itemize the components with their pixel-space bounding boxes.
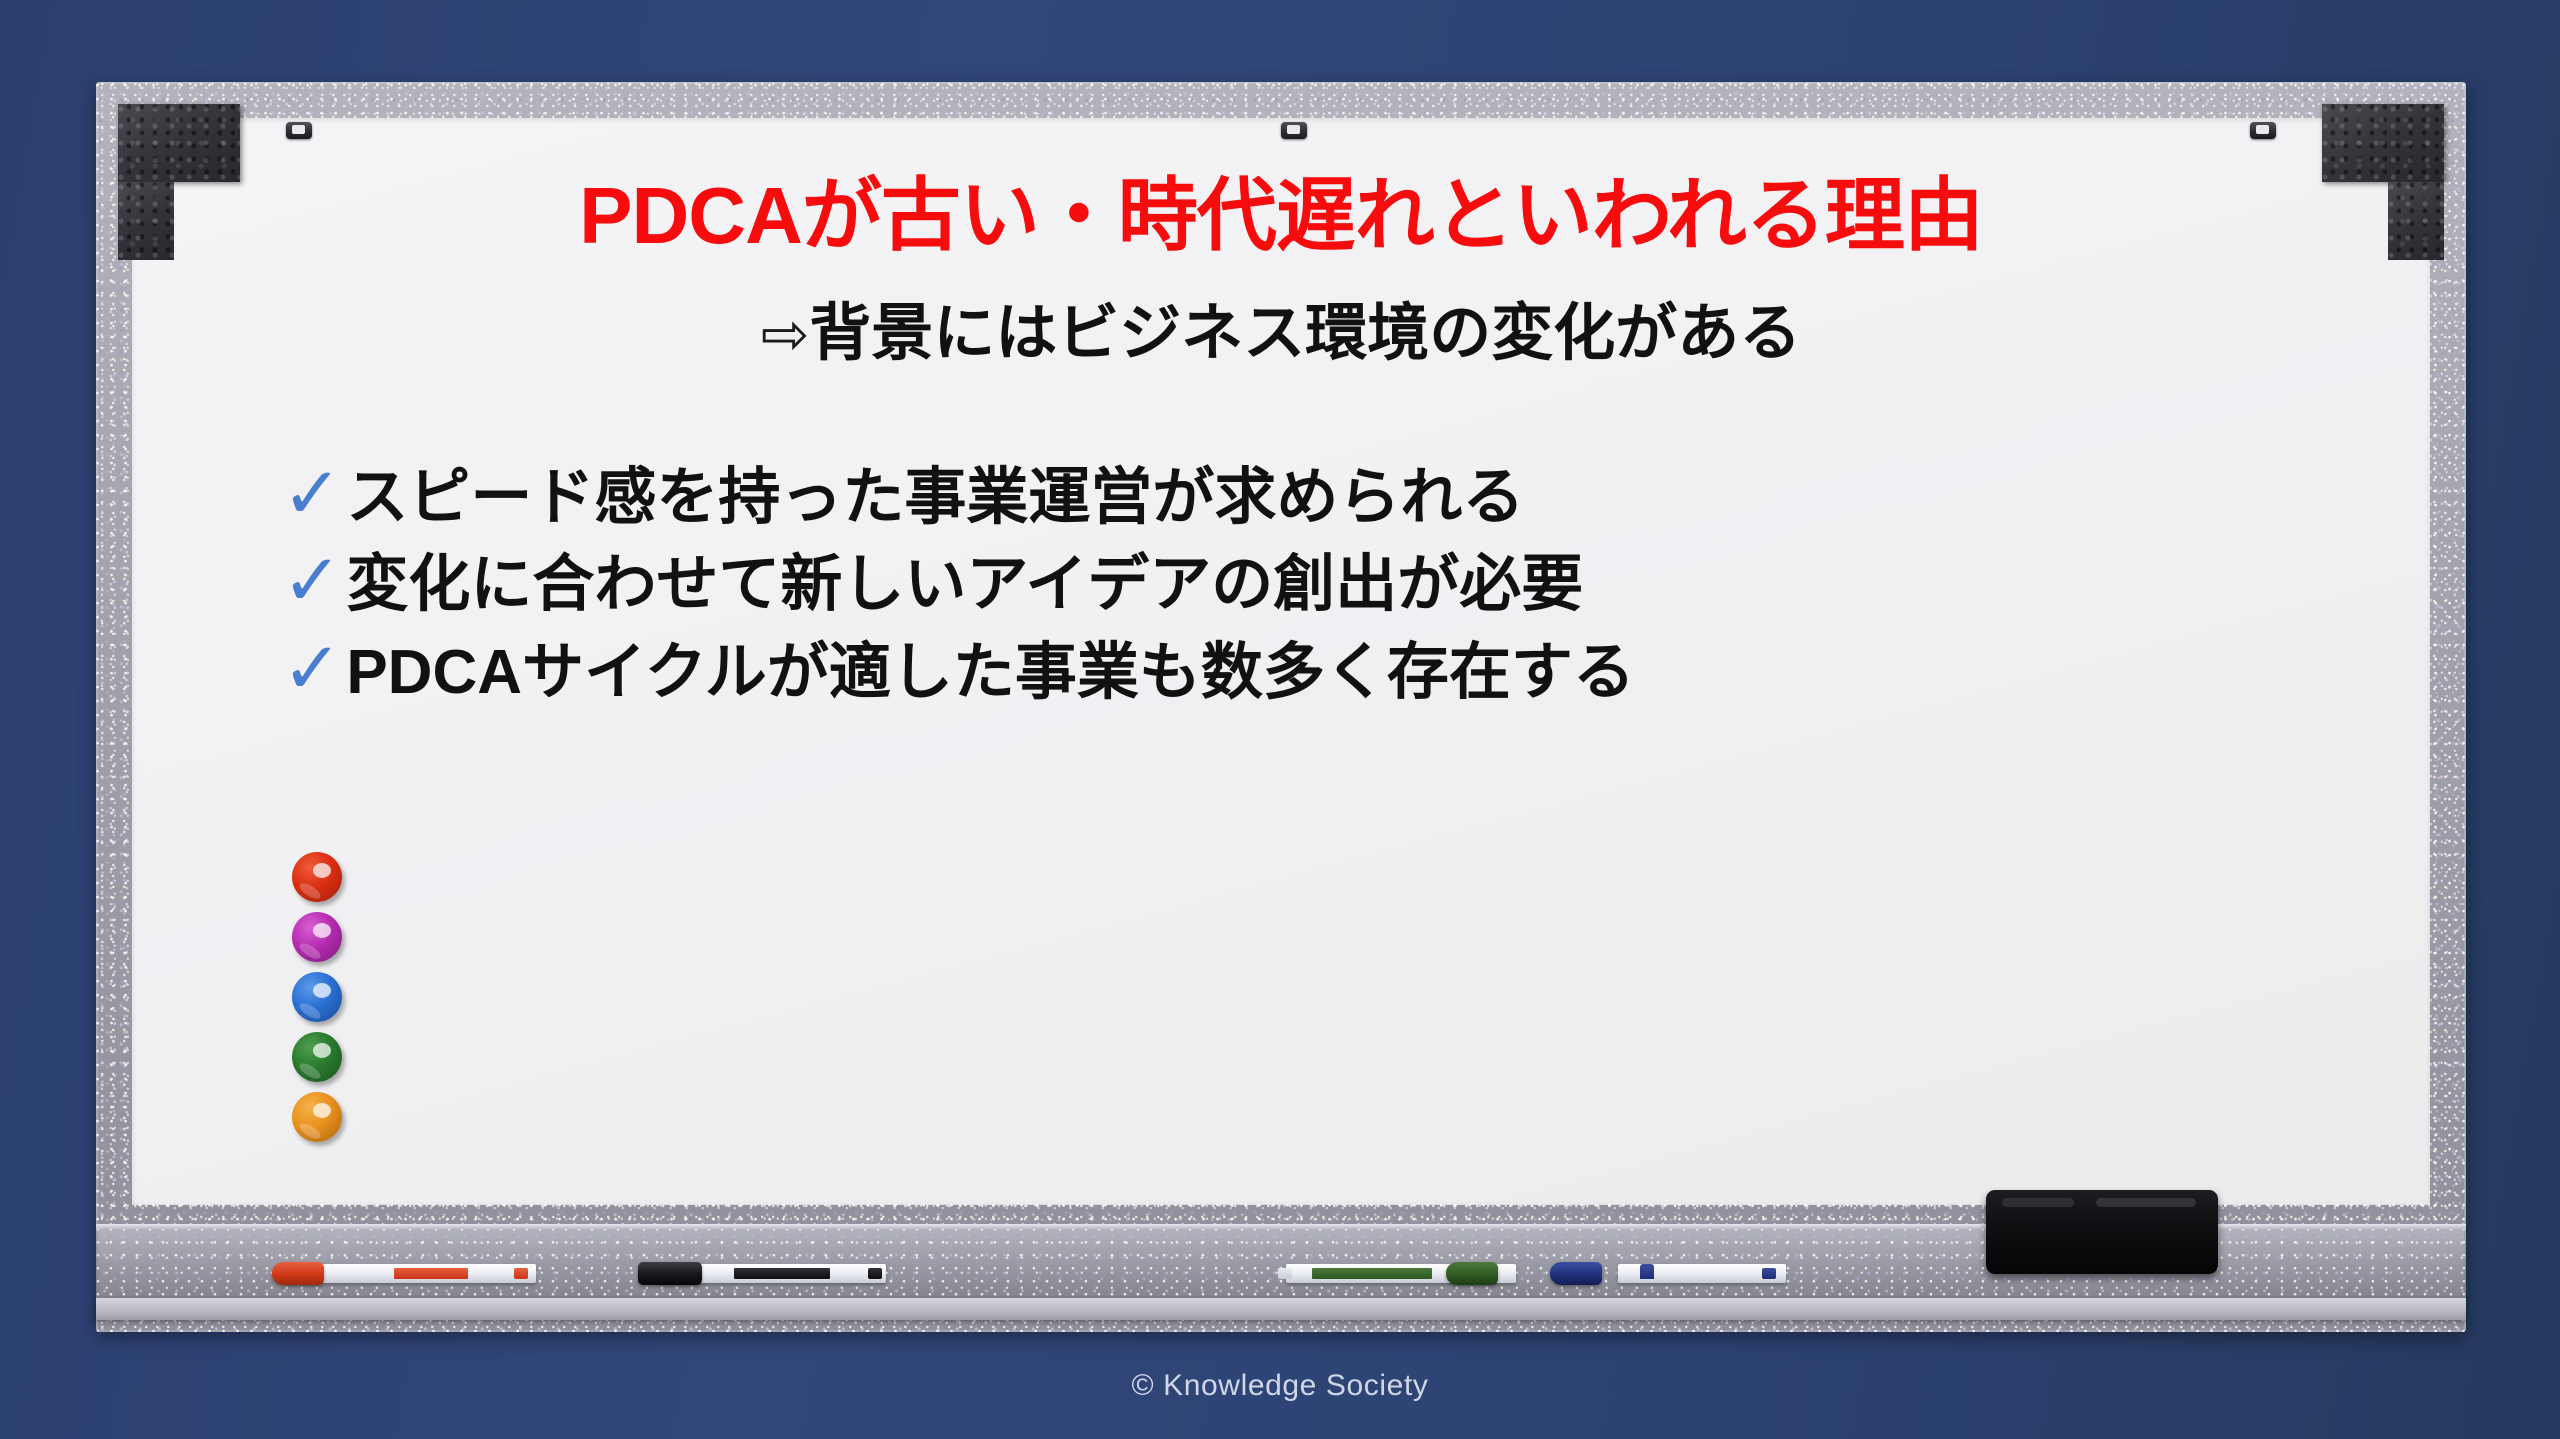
right-arrow-icon: ⇨ <box>761 302 810 367</box>
marker-tip <box>514 1268 528 1279</box>
marker-tip <box>1278 1268 1292 1279</box>
whiteboard: PDCAが古い・時代遅れといわれる理由 ⇨背景にはビジネス環境の変化がある ✓ … <box>96 82 2466 1332</box>
list-item: ✓ PDCAサイクルが適した事業も数多く存在する <box>282 633 2390 712</box>
magnet-strip <box>292 852 346 1152</box>
marker-band <box>1312 1268 1432 1279</box>
marker-tip <box>868 1268 882 1279</box>
check-icon: ✓ <box>282 458 342 530</box>
marker-band <box>734 1268 830 1279</box>
footer-copyright: © Knowledge Society <box>0 1369 2560 1403</box>
whiteboard-eraser-icon <box>1986 1190 2218 1274</box>
marker-cap <box>1550 1262 1602 1285</box>
slide-title: PDCAが古い・時代遅れといわれる理由 <box>132 174 2430 258</box>
marker-band <box>1640 1264 1654 1279</box>
pen-tray-lip <box>96 1298 2466 1320</box>
slide-subtitle-text: 背景にはビジネス環境の変化がある <box>809 299 1801 368</box>
marker-blue-icon <box>1556 1264 1786 1283</box>
magnet-purple-icon <box>292 912 342 962</box>
marker-cap <box>272 1262 324 1285</box>
marker-cap <box>1446 1262 1498 1285</box>
slide-background: PDCAが古い・時代遅れといわれる理由 ⇨背景にはビジネス環境の変化がある ✓ … <box>0 0 2560 1439</box>
list-item: ✓ 変化に合わせて新しいアイデアの創出が必要 <box>282 545 2390 624</box>
marker-red-icon <box>286 1264 536 1283</box>
magnet-blue-icon <box>292 972 342 1022</box>
pen-tray <box>96 1224 2466 1332</box>
frame-corner-top-left-icon <box>118 104 240 182</box>
frame-clip-center-icon <box>1281 122 1307 139</box>
list-item-label: スピード感を持った事業運営が求められる <box>346 458 1524 537</box>
check-icon: ✓ <box>282 545 342 617</box>
slide-content: PDCAが古い・時代遅れといわれる理由 ⇨背景にはビジネス環境の変化がある ✓ … <box>132 118 2430 1204</box>
magnet-red-icon <box>292 852 342 902</box>
bullet-list: ✓ スピード感を持った事業運営が求められる ✓ 変化に合わせて新しいアイデアの創… <box>282 458 2390 720</box>
magnet-green-icon <box>292 1032 342 1082</box>
frame-corner-top-right-icon <box>2322 104 2444 182</box>
check-icon: ✓ <box>282 633 342 705</box>
marker-cap <box>638 1262 702 1285</box>
marker-green-icon <box>1286 1264 1516 1283</box>
marker-black-icon <box>656 1264 886 1283</box>
marker-band <box>394 1268 468 1279</box>
frame-clip-left-icon <box>286 122 312 139</box>
list-item: ✓ スピード感を持った事業運営が求められる <box>282 458 2390 537</box>
list-item-label: 変化に合わせて新しいアイデアの創出が必要 <box>346 545 1583 624</box>
slide-subtitle: ⇨背景にはビジネス環境の変化がある <box>132 300 2430 368</box>
magnet-orange-icon <box>292 1092 342 1142</box>
marker-tip <box>1762 1268 1776 1279</box>
list-item-label: PDCAサイクルが適した事業も数多く存在する <box>346 633 1635 712</box>
frame-clip-right-icon <box>2250 122 2276 139</box>
